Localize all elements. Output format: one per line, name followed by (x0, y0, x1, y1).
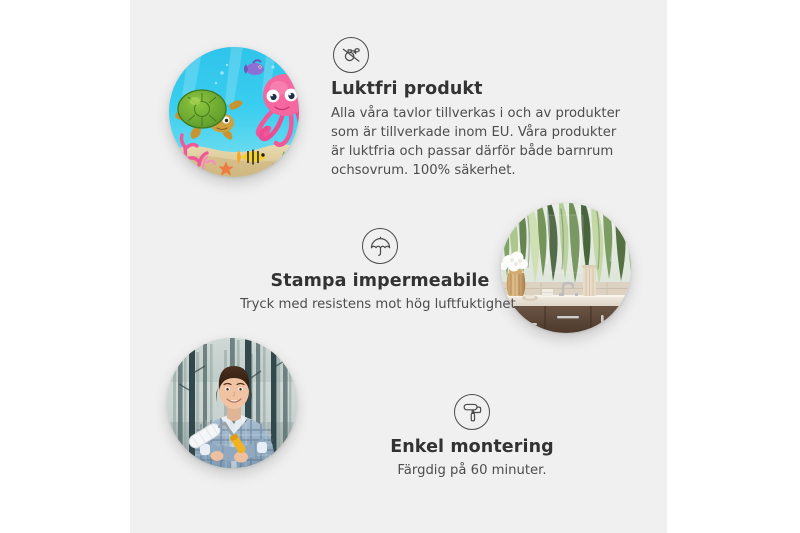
umbrella-icon (362, 228, 398, 264)
paint-roller-glyph (461, 401, 484, 424)
no-fragrance-bottle-icon (333, 37, 369, 73)
feature-body: Alla våra tavlor tillverkas i och av pro… (331, 104, 621, 181)
feature-waterproof: Stampa impermeabile Tryck med resistens … (210, 228, 550, 314)
umbrella-glyph (369, 235, 392, 258)
paint-roller-icon (454, 394, 490, 430)
woman-with-roller-photo (167, 338, 297, 468)
feature-easymount: Enkel montering Färgdig på 60 minuter. (342, 394, 602, 480)
underwater-cartoon-illustration (169, 47, 299, 177)
no-fragrance-bottle-glyph (339, 43, 363, 67)
photo-underwater-cartoon-scene (169, 47, 299, 177)
feature-body: Tryck med resistens mot hög luftfuktighe… (210, 295, 550, 314)
feature-title: Luktfri produkt (331, 79, 631, 99)
feature-title: Enkel montering (342, 437, 602, 457)
product-feature-infographic: Luktfri produkt Alla våra tavlor tillver… (0, 0, 800, 533)
feature-title: Stampa impermeabile (210, 271, 550, 291)
feature-odourless: Luktfri produkt Alla våra tavlor tillver… (331, 37, 631, 181)
photo-woman-paint-roller-forest-mural (167, 338, 297, 468)
feature-body: Färgdig på 60 minuter. (342, 461, 602, 480)
infographic-stage: Luktfri produkt Alla våra tavlor tillver… (130, 0, 667, 533)
